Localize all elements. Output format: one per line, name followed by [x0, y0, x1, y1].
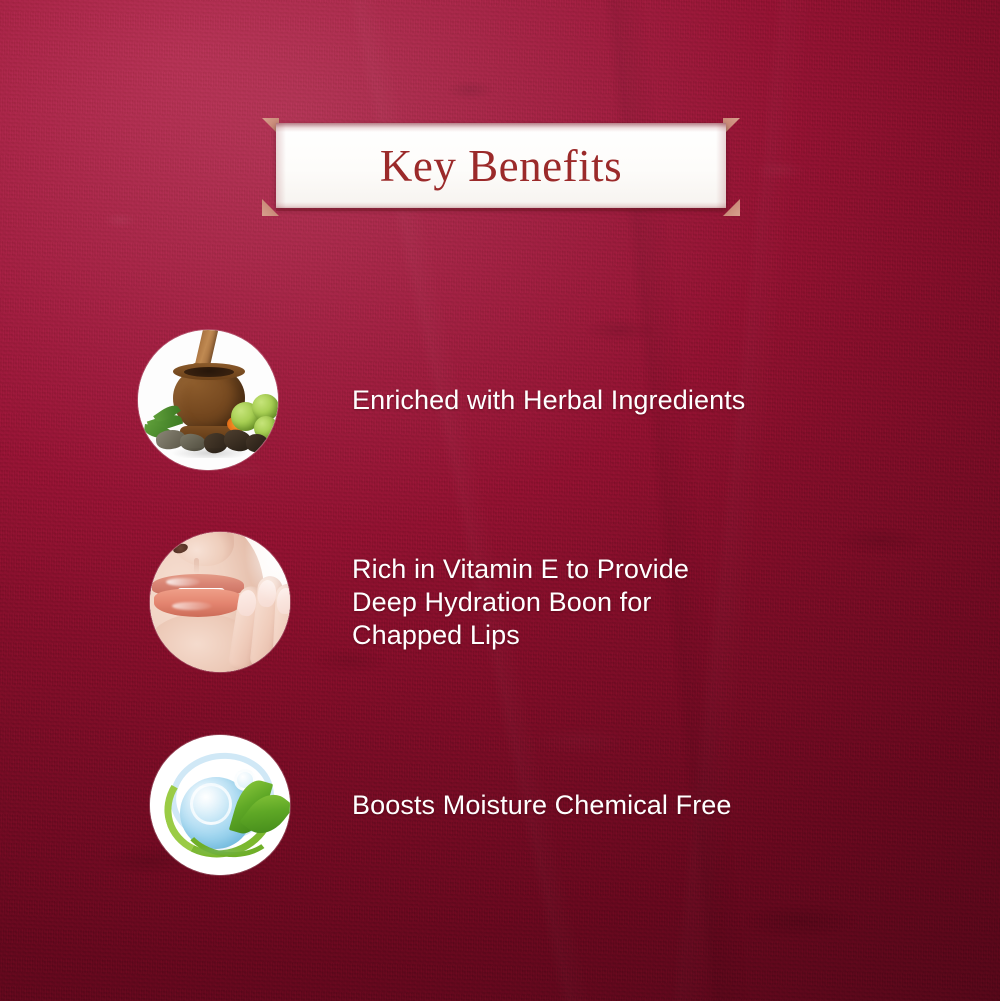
- key-benefits-poster: Key Benefits: [0, 0, 1000, 1001]
- mortar-scene: [138, 330, 278, 470]
- benefit-row: Rich in Vitamin E to Provide Deep Hydrat…: [0, 532, 1000, 672]
- benefit-label: Rich in Vitamin E to Provide Deep Hydrat…: [352, 553, 689, 652]
- mortar-pestle-herbs-icon: [138, 330, 278, 470]
- benefit-row: Enriched with Herbal Ingredients: [0, 330, 1000, 470]
- benefit-label: Enriched with Herbal Ingredients: [352, 384, 745, 417]
- eco-scene: [150, 735, 290, 875]
- ground-shadow: [156, 448, 264, 458]
- page-title: Key Benefits: [276, 123, 726, 208]
- benefit-row: Boosts Moisture Chemical Free: [0, 735, 1000, 875]
- philtrum-shape: [194, 558, 199, 574]
- lips-closeup-icon: [150, 532, 290, 672]
- water-drop-leaf-icon: [150, 735, 290, 875]
- lip-gloss-highlight: [166, 578, 200, 586]
- benefit-label: Boosts Moisture Chemical Free: [352, 789, 732, 822]
- banner: Key Benefits: [262, 118, 740, 216]
- mortar-rim-inner-shape: [184, 367, 234, 377]
- photo-highlight: [226, 532, 290, 622]
- lip-gloss-highlight: [172, 602, 212, 610]
- lips-scene: [150, 532, 290, 672]
- eco-shadow: [178, 847, 262, 855]
